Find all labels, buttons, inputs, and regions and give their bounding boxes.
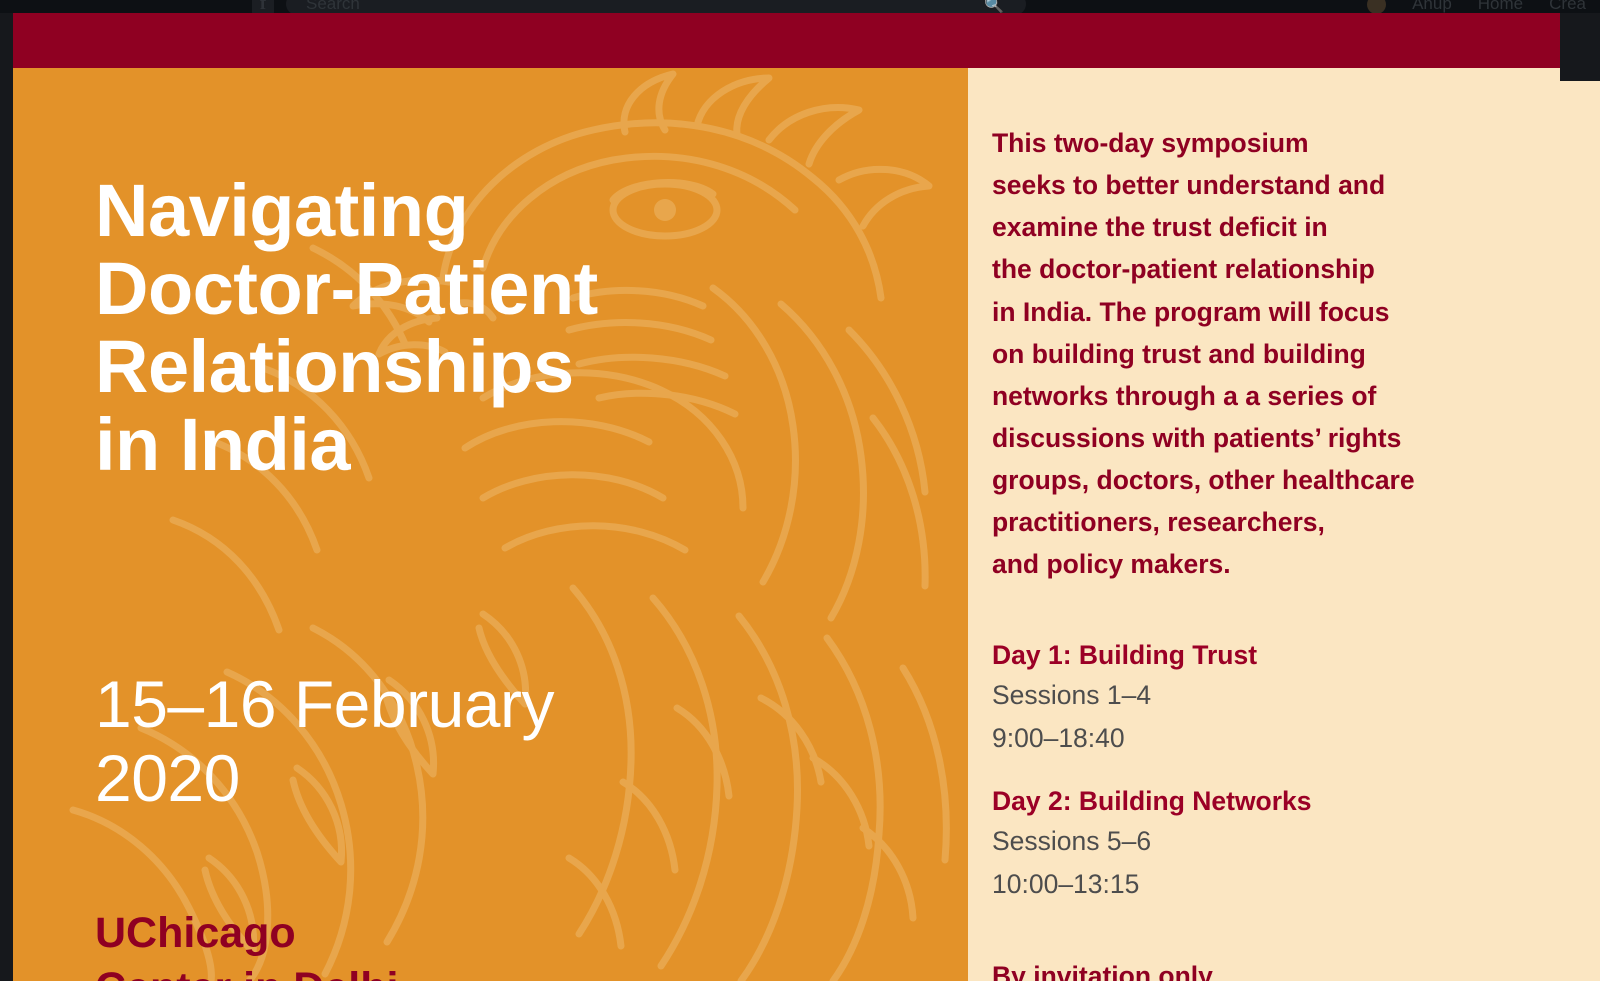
poster-right-panel: This two-day symposium seeks to better u… — [968, 68, 1600, 981]
day-2-heading: Day 2: Building Networks — [992, 782, 1592, 820]
search-icon[interactable]: 🔍 — [984, 0, 1004, 14]
day-2-time: 10:00–13:15 — [992, 863, 1592, 905]
page-frame-left — [0, 13, 13, 981]
maroon-header-band — [0, 13, 1560, 68]
event-venue: UChicago Center in Delhi — [95, 906, 795, 981]
nav-profile-name[interactable]: Anup — [1412, 0, 1452, 14]
avatar[interactable] — [1367, 0, 1386, 14]
nav-create[interactable]: Crea — [1549, 0, 1586, 14]
day-2-sessions: Sessions 5–6 — [992, 820, 1592, 862]
day-1-heading: Day 1: Building Trust — [992, 636, 1592, 674]
page-frame-right — [1560, 13, 1600, 81]
page-title: Navigating Doctor-Patient Relationships … — [95, 172, 895, 484]
nav-home[interactable]: Home — [1478, 0, 1523, 14]
poster-title-block: Navigating Doctor-Patient Relationships … — [95, 172, 895, 484]
facebook-top-bar: f Search 🔍 Anup Home Crea — [0, 0, 1600, 14]
event-poster: Navigating Doctor-Patient Relationships … — [13, 68, 1600, 981]
search-input[interactable]: Search 🔍 — [286, 0, 1026, 14]
event-dates: 15–16 February 2020 — [95, 668, 855, 816]
facebook-logo[interactable]: f — [252, 0, 274, 14]
day-2-block: Day 2: Building Networks Sessions 5–6 10… — [992, 782, 1592, 905]
invitation-footnote: By invitation only — [992, 956, 1592, 981]
poster-left-panel: Navigating Doctor-Patient Relationships … — [13, 68, 968, 981]
search-placeholder: Search — [306, 0, 360, 14]
day-1-block: Day 1: Building Trust Sessions 1–4 9:00–… — [992, 636, 1592, 759]
facebook-nav-right: Anup Home Crea — [1367, 0, 1586, 14]
day-1-sessions: Sessions 1–4 — [992, 674, 1592, 716]
event-description: This two-day symposium seeks to better u… — [992, 122, 1592, 585]
screenshot-root: f Search 🔍 Anup Home Crea — [0, 0, 1600, 981]
day-1-time: 9:00–18:40 — [992, 717, 1592, 759]
